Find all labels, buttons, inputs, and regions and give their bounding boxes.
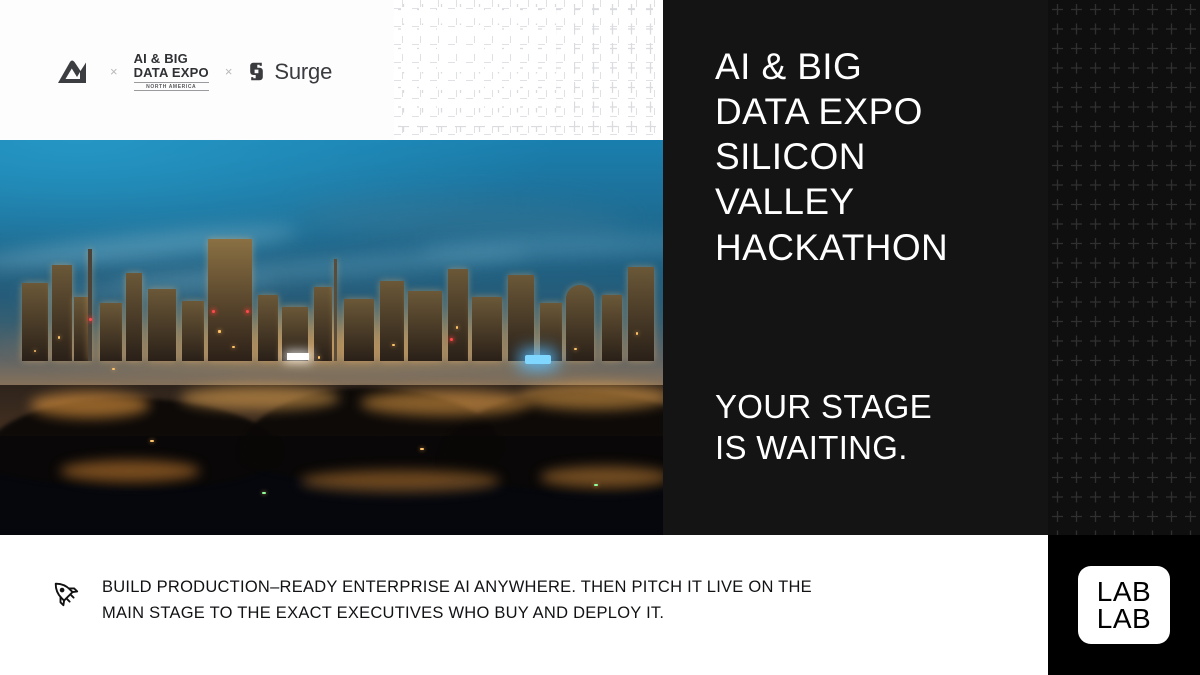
window-light: [392, 344, 395, 346]
headline-line-1: AI & BIG: [715, 44, 948, 89]
ai-big-data-expo-logo: AI & BIG DATA EXPO NORTH AMERICA: [134, 52, 209, 91]
building: [380, 281, 404, 361]
lablab-badge-container: LAB LAB: [1048, 535, 1200, 675]
lablab-badge-line-2: LAB: [1097, 605, 1151, 632]
footer-caption-line-2: MAIN STAGE TO THE EXACT EXECUTIVES WHO B…: [102, 601, 812, 627]
surge-logo-wordmark: Surge: [274, 59, 332, 85]
street-light: [420, 448, 424, 450]
street-light-glow: [30, 392, 150, 418]
building: [602, 295, 622, 361]
beacon-light: [89, 318, 92, 321]
building: [148, 289, 176, 361]
headline-line-5: HACKATHON: [715, 225, 948, 270]
illuminated-sign-cyan: [525, 355, 551, 364]
building: [182, 301, 204, 361]
building: [314, 287, 332, 361]
antenna-mast: [88, 249, 92, 361]
tagline-line-1: YOUR STAGE: [715, 386, 932, 427]
transamerica-spire: [334, 259, 337, 361]
street-light-glow: [60, 460, 200, 482]
surge-logo: Surge: [248, 59, 332, 85]
window-light: [58, 336, 60, 339]
san-francisco-night-skyline-photo: [0, 140, 663, 535]
beacon-light: [450, 338, 453, 341]
window-light: [218, 330, 221, 333]
building: [408, 291, 442, 361]
building: [74, 297, 88, 361]
plus-pattern-light-grid: [394, 0, 663, 140]
headline-line-3: SILICON: [715, 134, 948, 179]
street-light-glow: [540, 466, 663, 488]
illuminated-sign-white: [287, 353, 309, 360]
tagline: YOUR STAGE IS WAITING.: [715, 386, 932, 469]
building: [126, 273, 142, 361]
building-domed: [566, 285, 594, 361]
building: [472, 297, 502, 361]
building: [540, 303, 562, 361]
poster-canvas: × AI & BIG DATA EXPO NORTH AMERICA × Sur…: [0, 0, 1200, 675]
building: [628, 267, 654, 361]
rocket-icon: [50, 575, 80, 613]
plus-pattern-dark: [1048, 0, 1200, 535]
street-light-glow: [300, 470, 500, 492]
logo-lockup-row: × AI & BIG DATA EXPO NORTH AMERICA × Sur…: [56, 52, 332, 91]
tower-highrise: [208, 239, 252, 361]
partner-logo-strip: × AI & BIG DATA EXPO NORTH AMERICA × Sur…: [0, 0, 394, 140]
building: [52, 265, 72, 361]
event-headline: AI & BIG DATA EXPO SILICON VALLEY HACKAT…: [715, 44, 948, 270]
footer-caption-line-1: BUILD PRODUCTION–READY ENTERPRISE AI ANY…: [102, 575, 812, 601]
beacon-light: [246, 310, 249, 313]
window-light: [112, 368, 115, 370]
building: [258, 295, 278, 361]
window-light: [318, 356, 320, 359]
footer-bar: BUILD PRODUCTION–READY ENTERPRISE AI ANY…: [0, 535, 1048, 675]
headline-line-2: DATA EXPO: [715, 89, 948, 134]
street-light-glow: [360, 390, 530, 416]
headline-line-4: VALLEY: [715, 179, 948, 224]
plus-pattern-light: [394, 0, 663, 140]
lablab-badge: LAB LAB: [1078, 566, 1170, 644]
window-light: [456, 326, 458, 329]
building: [100, 303, 122, 361]
street-light-glow: [520, 384, 663, 410]
footer-caption: BUILD PRODUCTION–READY ENTERPRISE AI ANY…: [102, 575, 812, 626]
street-light-glow: [180, 386, 340, 410]
street-light: [150, 440, 154, 442]
headline-panel: AI & BIG DATA EXPO SILICON VALLEY HACKAT…: [663, 0, 1048, 535]
tagline-line-2: IS WAITING.: [715, 427, 932, 468]
footer-content: BUILD PRODUCTION–READY ENTERPRISE AI ANY…: [50, 575, 812, 626]
window-light: [636, 332, 638, 335]
lablab-badge-line-1: LAB: [1097, 578, 1151, 605]
building: [344, 299, 374, 361]
left-column: × AI & BIG DATA EXPO NORTH AMERICA × Sur…: [0, 0, 663, 535]
logo-separator-1: ×: [110, 65, 118, 78]
traffic-light: [262, 492, 266, 494]
surge-logo-mark: [248, 62, 265, 81]
window-light: [574, 348, 577, 350]
window-light: [232, 346, 235, 348]
building: [448, 269, 468, 361]
expo-logo-region: NORTH AMERICA: [134, 82, 209, 91]
window-light: [34, 350, 36, 352]
beacon-light: [212, 310, 215, 313]
building: [508, 275, 534, 361]
traffic-light: [594, 484, 598, 486]
expo-logo-line1: AI & BIG: [134, 52, 188, 66]
lablab-logo-mark: [56, 59, 94, 85]
expo-logo-line2: DATA EXPO: [134, 66, 209, 80]
logo-separator-2: ×: [225, 65, 233, 78]
